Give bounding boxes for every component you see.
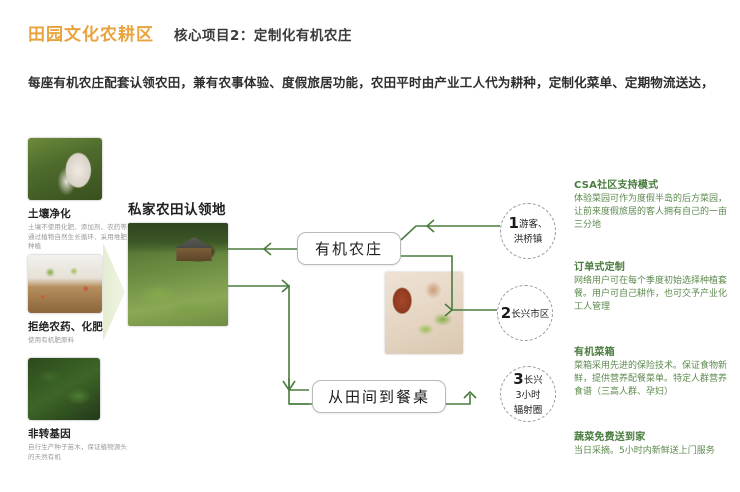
farm-to-table-pill[interactable]: 从田间到餐桌 <box>312 380 446 413</box>
feature-title: 拒绝农药、化肥 <box>28 319 133 334</box>
circle-label-line1: 游客、 <box>519 219 548 230</box>
info-heading: 订单式定制 <box>574 258 734 273</box>
market-circle-2: 2长兴市区 <box>497 285 553 341</box>
private-farm-label: 私家农田认领地 <box>128 198 226 218</box>
info-body: 网络用户可在每个季度初始选择种植套餐。用户可自己耕作，也可交予产业化工人管理 <box>574 275 734 314</box>
feature-desc: 使用有机肥原料 <box>28 336 133 346</box>
feature-item: 非转基因 自行生产种子苗木，保证植物源头的天然有机 <box>28 358 133 462</box>
private-farm-plot-photo <box>128 223 228 326</box>
info-heading: 蔬菜免费送到家 <box>574 428 734 443</box>
info-heading: 有机菜箱 <box>574 343 734 358</box>
soil-purification-photo <box>28 138 102 200</box>
circle-number: 2 <box>501 304 511 322</box>
feature-title: 土壤净化 <box>28 206 133 221</box>
feature-desc: 自行生产种子苗木，保证植物源头的天然有机 <box>28 443 133 462</box>
circle-label-line3: 辐射圈 <box>514 405 543 416</box>
slide-header: 田园文化农耕区 核心项目2：定制化有机农庄 <box>28 20 352 45</box>
info-body: 当日采摘。5小时内新鲜送上门服务 <box>574 445 734 458</box>
circle-number: 1 <box>509 214 519 232</box>
circle-label-line1: 长兴 <box>524 375 543 386</box>
info-heading: CSA社区支持模式 <box>574 176 734 191</box>
family-dining-photo <box>385 272 463 354</box>
lead-paragraph: 每座有机农庄配套认领农田，兼有农事体验、度假旅居功能，农田平时由产业工人代为耕种… <box>28 72 718 94</box>
non-gmo-leaves-photo <box>28 358 100 420</box>
circle-label-line2: 3小时 <box>515 390 540 401</box>
info-block: 有机菜箱 菜箱采用先进的保险技术。保证食物新鲜，提供营养配餐菜单。特定人群营养食… <box>574 343 734 399</box>
feature-desc: 土壤不使用化肥、添加剂、农药等 通过植物自然生长循环、采用堆肥种植 <box>28 223 133 252</box>
info-body: 体验菜园可作为度假半岛的后方菜园，让前来度假旅居的客人拥有自己的一亩三分地 <box>574 193 734 232</box>
page-subtitle: 核心项目2：定制化有机农庄 <box>174 24 352 44</box>
organic-farm-pill[interactable]: 有机农庄 <box>297 232 401 265</box>
info-body: 菜箱采用先进的保险技术。保证食物新鲜，提供营养配餐菜单。特定人群营养食谱（三高人… <box>574 360 734 399</box>
circle-label-line2: 洪桥镇 <box>514 234 543 245</box>
info-block: CSA社区支持模式 体验菜园可作为度假半岛的后方菜园，让前来度假旅居的客人拥有自… <box>574 176 734 232</box>
info-block: 蔬菜免费送到家 当日采摘。5小时内新鲜送上门服务 <box>574 428 734 458</box>
slide-canvas: 田园文化农耕区 核心项目2：定制化有机农庄 每座有机农庄配套认领农田，兼有农事体… <box>0 0 740 492</box>
page-title: 田园文化农耕区 <box>28 20 154 45</box>
feature-title: 非转基因 <box>28 426 133 441</box>
info-block: 订单式定制 网络用户可在每个季度初始选择种植套餐。用户可自己耕作，也可交予产业化… <box>574 258 734 314</box>
market-circle-3: 3长兴 3小时 辐射圈 <box>500 366 556 422</box>
circle-label-line1: 长兴市区 <box>511 309 549 320</box>
organic-vegetables-photo <box>28 255 102 313</box>
circle-number: 3 <box>513 370 523 388</box>
market-circle-1: 1游客、 洪桥镇 <box>500 203 556 259</box>
feature-item: 土壤净化 土壤不使用化肥、添加剂、农药等 通过植物自然生长循环、采用堆肥种植 <box>28 138 133 252</box>
